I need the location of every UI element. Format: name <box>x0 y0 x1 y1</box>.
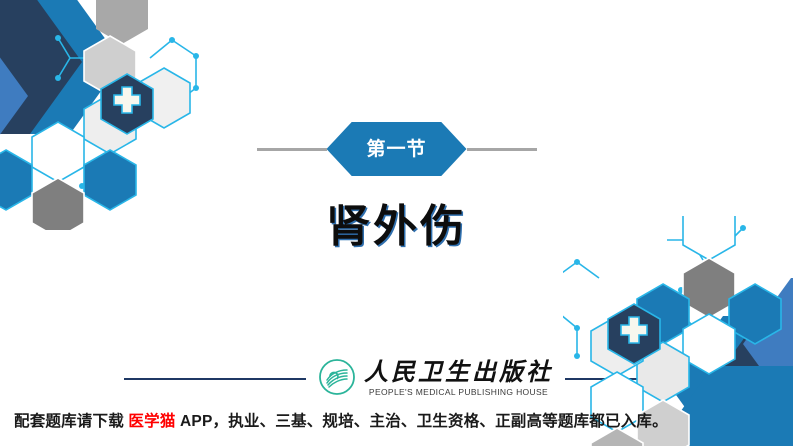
section-banner-row: 第一节 <box>0 122 793 176</box>
publisher-book-mark-icon <box>318 358 356 401</box>
publisher-logo-row: 人民卫生出版社 PEOPLE'S MEDICAL PUBLISHING HOUS… <box>0 355 793 403</box>
publisher-name-cn: 人民卫生出版社 <box>364 361 553 385</box>
publisher-names: 人民卫生出版社 PEOPLE'S MEDICAL PUBLISHING HOUS… <box>364 361 553 397</box>
footer-note: 配套题库请下载 医学猫 APP，执业、三基、规培、主治、卫生资格、正副高等题库都… <box>14 414 668 430</box>
footer-note-before: 配套题库请下载 <box>14 413 128 430</box>
medical-cross-icon-bottom <box>621 317 647 343</box>
hexagon-molecule-cluster-icon <box>0 0 230 230</box>
medical-cross-icon <box>114 87 140 113</box>
banner-rule-right-icon <box>467 148 537 151</box>
section-banner: 第一节 <box>327 122 467 176</box>
banner-rule-left-icon <box>257 148 327 151</box>
footer-note-after: APP，执业、三基、规培、主治、卫生资格、正副高等题库都已入库。 <box>176 413 668 430</box>
section-banner-label: 第一节 <box>366 140 426 159</box>
logo-rule-right-icon <box>565 378 669 380</box>
page-title: 肾外伤 <box>0 205 793 249</box>
publisher-name-en: PEOPLE'S MEDICAL PUBLISHING HOUSE <box>369 388 548 397</box>
publisher-logo: 人民卫生出版社 PEOPLE'S MEDICAL PUBLISHING HOUS… <box>318 358 553 401</box>
hexagon-molecule-cluster-icon-bottom <box>563 216 793 446</box>
logo-rule-left-icon <box>124 378 306 380</box>
footer-note-highlight: 医学猫 <box>128 413 175 430</box>
slide-canvas: 第一节 肾外伤 人民卫生出版社 <box>0 0 793 446</box>
